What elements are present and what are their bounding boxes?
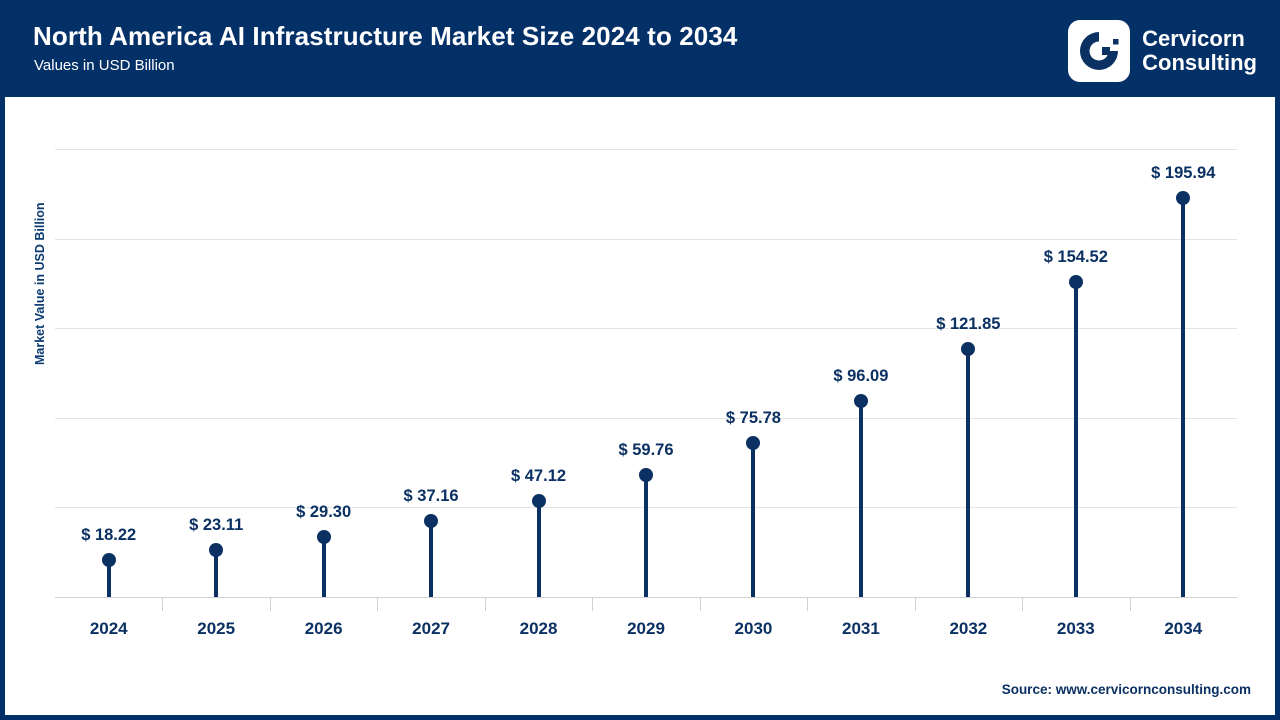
data-point-marker[interactable] <box>424 514 438 528</box>
page-subtitle: Values in USD Billion <box>34 57 175 74</box>
x-axis-category-label: 2024 <box>55 619 162 639</box>
chart-page: North America AI Infrastructure Market S… <box>0 0 1280 720</box>
data-point-marker[interactable] <box>317 530 331 544</box>
x-axis-category-label: 2027 <box>377 619 484 639</box>
data-point-marker[interactable] <box>1176 191 1190 205</box>
data-point-stem[interactable] <box>966 349 970 597</box>
data-point-value-label: $ 75.78 <box>700 409 807 428</box>
data-point-value-label: $ 59.76 <box>592 441 699 460</box>
y-axis-title: Market Value in USD Billion <box>33 202 47 365</box>
x-axis-category-label: 2028 <box>485 619 592 639</box>
data-point-stem[interactable] <box>1074 282 1078 597</box>
x-axis-tick <box>592 597 593 611</box>
data-point-value-label: $ 18.22 <box>55 526 162 545</box>
x-axis-category-label: 2031 <box>807 619 914 639</box>
source-note: Source: www.cervicornconsulting.com <box>1002 682 1251 697</box>
data-point-value-label: $ 154.52 <box>1022 248 1129 267</box>
x-axis-category-label: 2032 <box>915 619 1022 639</box>
gridline <box>55 418 1237 419</box>
gridline <box>55 239 1237 240</box>
gridline <box>55 328 1237 329</box>
x-axis-tick <box>1022 597 1023 611</box>
x-axis-category-label: 2034 <box>1130 619 1237 639</box>
data-point-stem[interactable] <box>322 537 326 597</box>
brand-logo-line1: Cervicorn <box>1142 26 1245 51</box>
brand-logo[interactable]: Cervicorn Consulting <box>1068 18 1257 84</box>
chart-container: Market Value in USD Billion $ 18.222024$… <box>5 97 1275 715</box>
data-point-stem[interactable] <box>214 550 218 597</box>
x-axis-category-label: 2033 <box>1022 619 1129 639</box>
x-axis-category-label: 2025 <box>162 619 269 639</box>
data-point-marker[interactable] <box>532 494 546 508</box>
data-point-stem[interactable] <box>1181 198 1185 597</box>
x-axis-tick <box>915 597 916 611</box>
data-point-marker[interactable] <box>639 468 653 482</box>
data-point-marker[interactable] <box>1069 275 1083 289</box>
data-point-marker[interactable] <box>746 436 760 450</box>
x-axis-line <box>55 597 1237 598</box>
data-point-stem[interactable] <box>537 501 541 597</box>
gridline <box>55 149 1237 150</box>
cervicorn-c-logo-icon <box>1068 20 1130 82</box>
brand-logo-line2: Consulting <box>1142 51 1257 75</box>
x-axis-tick <box>807 597 808 611</box>
data-point-value-label: $ 195.94 <box>1130 164 1237 183</box>
data-point-value-label: $ 37.16 <box>377 487 484 506</box>
data-point-marker[interactable] <box>102 553 116 567</box>
x-axis-category-label: 2030 <box>700 619 807 639</box>
page-title: North America AI Infrastructure Market S… <box>33 21 738 52</box>
data-point-value-label: $ 47.12 <box>485 467 592 486</box>
data-point-stem[interactable] <box>751 443 755 597</box>
data-point-value-label: $ 121.85 <box>915 315 1022 334</box>
x-axis-category-label: 2029 <box>592 619 699 639</box>
plot-area: $ 18.222024$ 23.112025$ 29.302026$ 37.16… <box>55 137 1237 637</box>
x-axis-tick <box>700 597 701 611</box>
x-axis-tick <box>377 597 378 611</box>
data-point-value-label: $ 29.30 <box>270 503 377 522</box>
x-axis-tick <box>1130 597 1131 611</box>
x-axis-tick <box>270 597 271 611</box>
x-axis-tick <box>485 597 486 611</box>
x-axis-tick <box>162 597 163 611</box>
brand-logo-text: Cervicorn Consulting <box>1142 27 1257 75</box>
data-point-value-label: $ 23.11 <box>162 516 269 535</box>
data-point-value-label: $ 96.09 <box>807 367 914 386</box>
data-point-stem[interactable] <box>429 521 433 597</box>
data-point-stem[interactable] <box>644 475 648 597</box>
data-point-marker[interactable] <box>961 342 975 356</box>
data-point-marker[interactable] <box>209 543 223 557</box>
data-point-marker[interactable] <box>854 394 868 408</box>
header-banner: North America AI Infrastructure Market S… <box>5 5 1275 97</box>
x-axis-category-label: 2026 <box>270 619 377 639</box>
data-point-stem[interactable] <box>859 401 863 597</box>
